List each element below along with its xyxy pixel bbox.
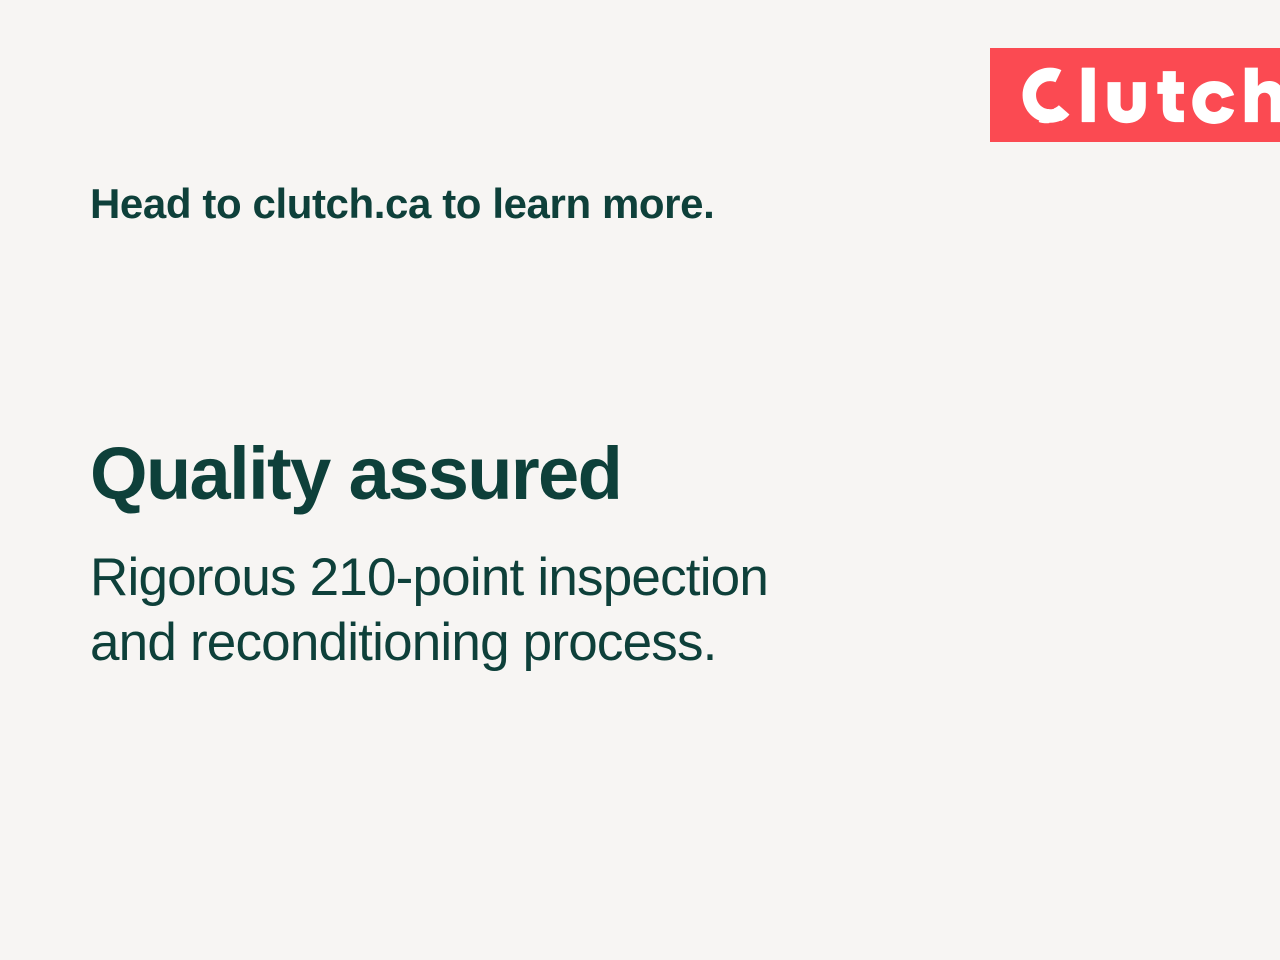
clutch-wordmark-icon bbox=[1022, 66, 1280, 124]
headline-title: Quality assured bbox=[90, 437, 621, 511]
body-copy-line-1: Rigorous 210-point inspection bbox=[90, 545, 990, 610]
slide-canvas: Head to clutch.ca to learn more. Quality… bbox=[0, 0, 1280, 960]
clutch-logo[interactable] bbox=[990, 48, 1280, 142]
body-copy: Rigorous 210-point inspection and recond… bbox=[90, 545, 990, 675]
body-copy-line-2: and reconditioning process. bbox=[90, 610, 990, 675]
tagline-text: Head to clutch.ca to learn more. bbox=[90, 181, 714, 226]
